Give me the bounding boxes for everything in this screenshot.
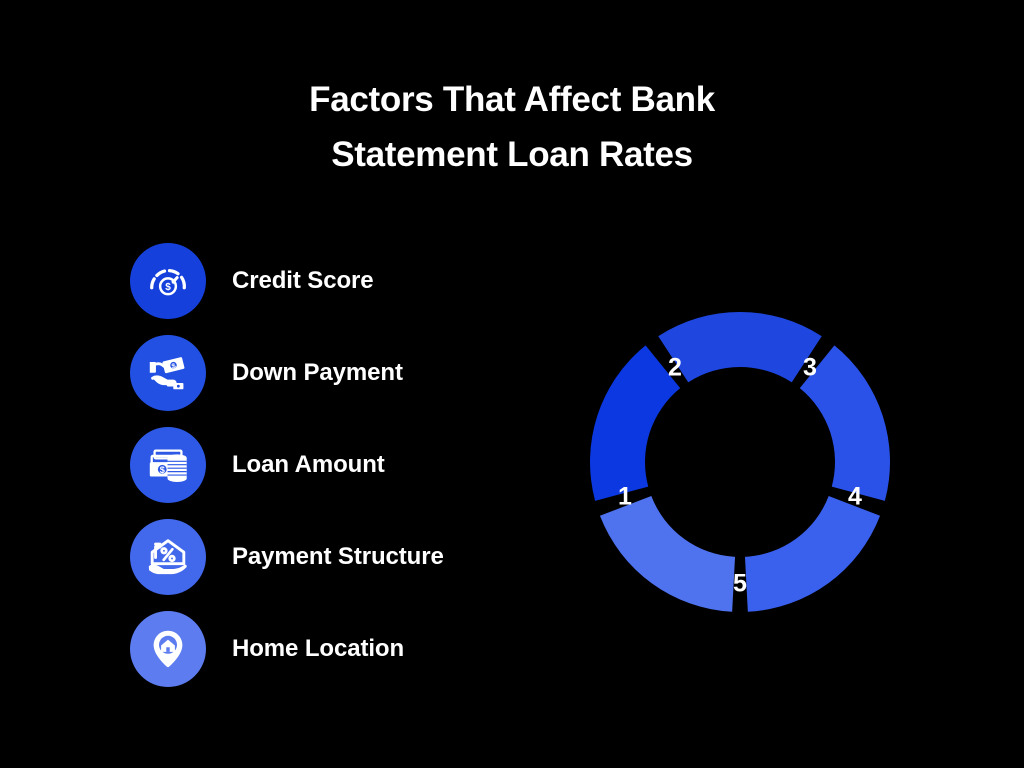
map-pin-home-icon [130, 611, 206, 687]
factor-label: Home Location [232, 635, 404, 663]
donut-slice-label-1: 1 [618, 483, 632, 511]
donut-chart: 12345 [590, 312, 890, 612]
svg-text:$: $ [160, 465, 165, 475]
page-title: Factors That Affect Bank Statement Loan … [0, 72, 1024, 182]
infographic-canvas: Factors That Affect Bank Statement Loan … [0, 0, 1024, 768]
factor-item-credit-score[interactable]: $ Credit Score [130, 243, 560, 319]
factor-item-loan-amount[interactable]: $ [130, 427, 560, 503]
svg-text:$: $ [165, 282, 171, 293]
donut-slice-4[interactable] [745, 496, 880, 612]
factor-label: Down Payment [232, 359, 403, 387]
factor-item-home-location[interactable]: Home Location [130, 611, 560, 687]
donut-slice-1[interactable] [590, 345, 680, 500]
factor-label: Payment Structure [232, 543, 444, 571]
page-title-line-1: Factors That Affect Bank [0, 72, 1024, 127]
page-title-line-2: Statement Loan Rates [0, 127, 1024, 182]
donut-slice-2[interactable] [658, 312, 821, 382]
donut-slice-5[interactable] [600, 496, 735, 612]
factor-item-down-payment[interactable]: $ Down Payment [130, 335, 560, 411]
hand-cash-icon: $ [130, 335, 206, 411]
factor-item-payment-structure[interactable]: Payment Structure [130, 519, 560, 595]
donut-slice-label-4: 4 [848, 483, 862, 511]
donut-slice-label-2: 2 [668, 354, 682, 382]
donut-slice-label-3: 3 [803, 354, 817, 382]
money-coins-icon: $ [130, 427, 206, 503]
factor-label: Credit Score [232, 267, 374, 295]
donut-slice-label-5: 5 [733, 570, 747, 598]
house-percent-hand-icon [130, 519, 206, 595]
credit-score-gauge-icon: $ [130, 243, 206, 319]
donut-chart-svg: 12345 [590, 312, 890, 612]
factor-label: Loan Amount [232, 451, 385, 479]
factor-list: $ Credit Score $ [130, 243, 560, 703]
